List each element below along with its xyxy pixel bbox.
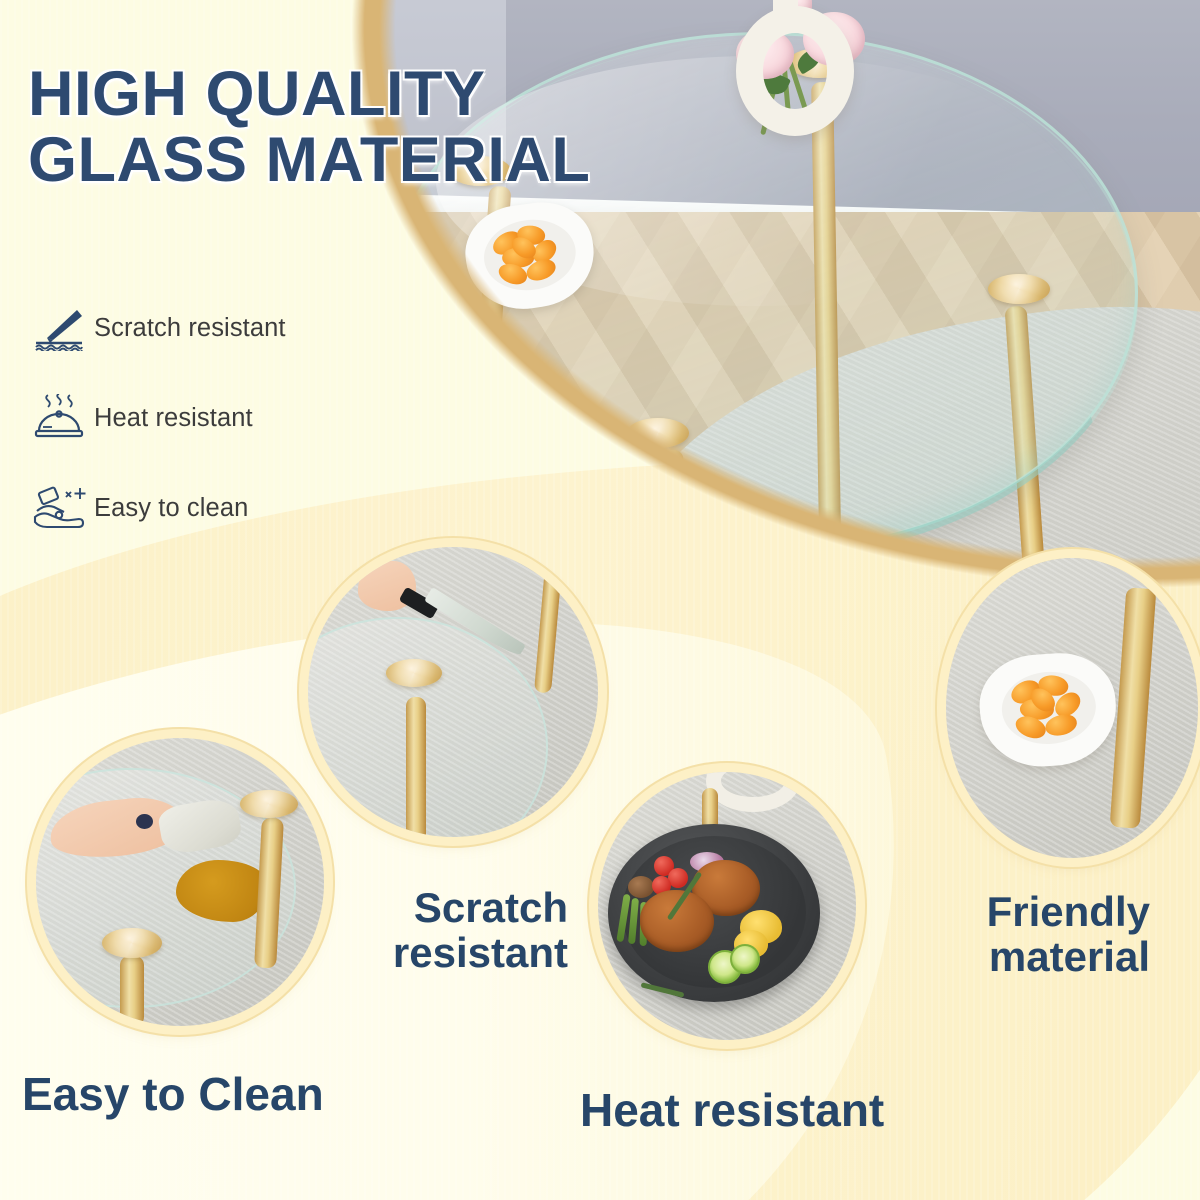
feature-item-scratch-resistant: Scratch resistant [24,283,354,373]
feature-list: Scratch resistant Heat resistant [24,283,354,553]
gold-cap [240,790,298,818]
white-donut-vase-neck [773,0,798,27]
gold-table-leg [120,956,144,1026]
scratch-resistant-photo [308,547,598,837]
caption-line-1: Scratch [346,886,568,931]
lime-slice [730,944,760,974]
heat-resistant-photo [598,772,856,1040]
gold-cap [386,659,442,687]
caption-heat-resistant: Heat resistant [580,1086,884,1135]
feature-label: Heat resistant [94,404,253,433]
gold-cap [102,928,162,958]
gold-cap [988,274,1050,304]
cherry-tomato [668,868,688,888]
gold-cap [627,418,689,448]
caption-line-2: resistant [346,931,568,976]
ring [136,814,153,829]
caption-scratch-resistant: Scratch resistant [346,886,568,975]
caption-friendly-material: Friendly material [946,890,1150,979]
gold-table-leg [406,697,426,837]
friendly-material-photo [946,558,1198,858]
easy-to-clean-photo [36,738,324,1026]
grilled-steak-patty [640,890,714,952]
knife-scratch-icon [24,305,94,351]
hand-cloth-sparkle-icon [24,484,94,532]
infographic-canvas: HIGH QUALITY GLASS MATERIAL Scratch resi… [0,0,1200,1200]
food-cloche-heat-icon [24,394,94,442]
caption-line-2: material [946,935,1150,980]
caption-line-1: Friendly [946,890,1150,935]
feature-item-easy-to-clean: Easy to clean [24,463,354,553]
caption-easy-to-clean: Easy to Clean [22,1070,324,1119]
feature-item-heat-resistant: Heat resistant [24,373,354,463]
headline-line-1: HIGH QUALITY [28,59,486,129]
feature-label: Scratch resistant [94,314,286,343]
page-title: HIGH QUALITY GLASS MATERIAL [28,62,788,193]
mushroom [628,876,654,898]
feature-label: Easy to clean [94,494,248,523]
headline-line-2: GLASS MATERIAL [28,128,788,194]
